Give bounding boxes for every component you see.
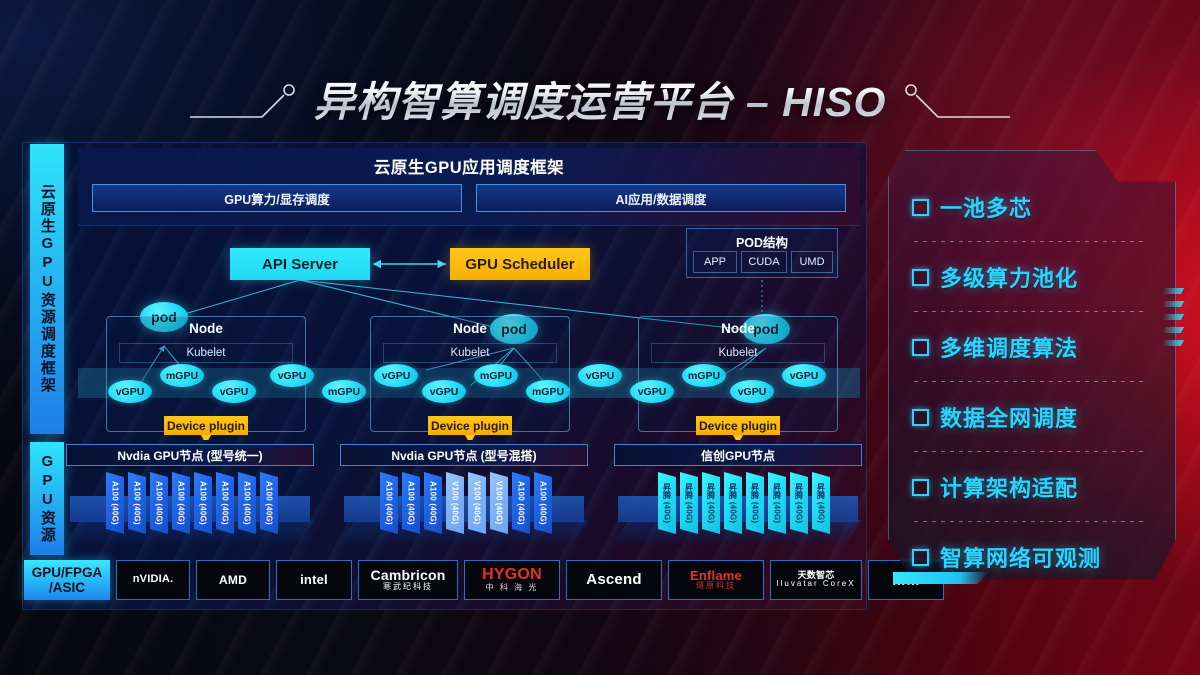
logo-subtitle: 寒武纪科技	[383, 583, 433, 592]
panel-tick	[1162, 301, 1184, 307]
pod-structure-box: POD结构 APP CUDA UMD	[686, 228, 838, 278]
gpu-bubble-vgpu-10[interactable]: vGPU	[630, 380, 674, 403]
feature-label: 多级算力池化	[940, 261, 1078, 293]
sidebar-tab-asic-label: GPU/FPGA/ASIC	[32, 565, 103, 595]
gpu-card[interactable]: 昇腾 (40G)	[790, 472, 808, 534]
checkbox-icon	[912, 409, 929, 426]
gpu-card[interactable]: A100 (40G)	[216, 472, 234, 534]
feature-item-2[interactable]: 多维调度算法	[912, 312, 1162, 382]
panel-tick	[1162, 314, 1184, 320]
gpu-card-stack: 昇腾 (40G)昇腾 (40G)昇腾 (40G)昇腾 (40G)昇腾 (40G)…	[614, 472, 862, 538]
iluvatar-logo[interactable]: 天数智芯Iluvatar CoreX	[770, 560, 862, 600]
pod-structure-title: POD结构	[687, 232, 837, 251]
gpu-card[interactable]: 昇腾 (40G)	[702, 472, 720, 534]
title-decoration-right	[902, 73, 1012, 123]
feature-item-1[interactable]: 多级算力池化	[912, 242, 1162, 312]
gpu-card[interactable]: 昇腾 (40G)	[680, 472, 698, 534]
gpu-scheduler-box[interactable]: GPU Scheduler	[450, 248, 590, 280]
gpu-card[interactable]: A100 (40G)	[380, 472, 398, 534]
framework-pill-compute: GPU算力/显存调度	[92, 184, 462, 212]
checkbox-icon	[912, 549, 929, 566]
gpu-card-label: V100 (40G)	[495, 481, 504, 524]
gpu-card[interactable]: A100 (40G)	[106, 472, 124, 534]
node-title: Node	[639, 321, 837, 336]
logo-name: Ascend	[586, 572, 641, 588]
feature-label: 智算网络可观测	[940, 541, 1101, 573]
checkbox-icon	[912, 269, 929, 286]
gpu-card[interactable]: A100 (40G)	[534, 472, 552, 534]
gpu-group-0: Nvdia GPU节点 (型号统一)A100 (40G)A100 (40G)A1…	[66, 444, 314, 550]
panel-tick	[1162, 327, 1184, 333]
gpu-card-label: 昇腾 (40G)	[794, 483, 805, 523]
gpu-bubble-mgpu-11[interactable]: mGPU	[682, 364, 726, 387]
gpu-group-title: Nvdia GPU节点 (型号统一)	[66, 444, 314, 466]
kubelet-bar: Kubelet	[383, 343, 557, 363]
device-plugin-1[interactable]: Device plugin	[164, 416, 248, 435]
checkbox-icon	[912, 199, 929, 216]
feature-item-4[interactable]: 计算架构适配	[912, 452, 1162, 522]
node-title: Node	[371, 321, 569, 336]
gpu-bubble-vgpu-5[interactable]: vGPU	[374, 364, 418, 387]
device-plugin-3[interactable]: Device plugin	[696, 416, 780, 435]
gpu-bubble-vgpu-9[interactable]: vGPU	[578, 364, 622, 387]
gpu-card-label: A100 (40G)	[517, 481, 526, 525]
gpu-card[interactable]: V100 (40G)	[446, 472, 464, 534]
gpu-card[interactable]: 昇腾 (40G)	[768, 472, 786, 534]
gpu-bubble-vgpu-0[interactable]: vGPU	[108, 380, 152, 403]
gpu-resource-row: Nvdia GPU节点 (型号统一)A100 (40G)A100 (40G)A1…	[66, 444, 866, 552]
gpu-group-title: Nvdia GPU节点 (型号混搭)	[340, 444, 588, 466]
enflame-logo[interactable]: Enflame燧原科技	[668, 560, 764, 600]
intel-logo[interactable]: intel	[276, 560, 352, 600]
gpu-card[interactable]: A100 (40G)	[238, 472, 256, 534]
gpu-card[interactable]: A100 (40G)	[424, 472, 442, 534]
pod-cell-cuda: CUDA	[741, 251, 787, 273]
gpu-card[interactable]: A100 (40G)	[172, 472, 190, 534]
page-title: 异构智算调度运营平台 – HISO	[314, 68, 887, 128]
gpu-card-label: 昇腾 (40G)	[662, 483, 673, 523]
feature-label: 多维调度算法	[940, 331, 1078, 363]
framework-pill-ai: AI应用/数据调度	[476, 184, 846, 212]
feature-item-0[interactable]: 一池多芯	[912, 172, 1162, 242]
nvidia-logo[interactable]: nVIDIA.	[116, 560, 190, 600]
cambricon-logo[interactable]: Cambricon寒武纪科技	[358, 560, 458, 600]
checkbox-icon	[912, 479, 929, 496]
feature-label: 一池多芯	[940, 191, 1032, 223]
api-server-box[interactable]: API Server	[230, 248, 370, 280]
gpu-card[interactable]: V100 (40G)	[468, 472, 486, 534]
scheduling-canvas: API Server GPU Scheduler POD结构 APP CUDA …	[78, 228, 860, 440]
gpu-bubble-mgpu-1[interactable]: mGPU	[160, 364, 204, 387]
gpu-group-title: 信创GPU节点	[614, 444, 862, 466]
logo-name: Cambricon	[371, 568, 446, 583]
gpu-card[interactable]: A100 (40G)	[128, 472, 146, 534]
gpu-card-label: A100 (40G)	[221, 481, 230, 525]
gpu-group-2: 信创GPU节点昇腾 (40G)昇腾 (40G)昇腾 (40G)昇腾 (40G)昇…	[614, 444, 862, 550]
gpu-card-label: 昇腾 (40G)	[772, 483, 783, 523]
vendor-logo-row: nVIDIA.AMDintelCambricon寒武纪科技HYGON中 科 海 …	[116, 560, 864, 600]
logo-name: intel	[300, 573, 328, 587]
logo-subtitle: 燧原科技	[696, 582, 736, 591]
device-plugin-2[interactable]: Device plugin	[428, 416, 512, 435]
hygon-logo[interactable]: HYGON中 科 海 光	[464, 560, 560, 600]
sidebar-tab-asic: GPU/FPGA/ASIC	[24, 560, 110, 600]
panel-tick-marks	[1162, 288, 1184, 368]
gpu-card-label: A100 (40G)	[407, 481, 416, 525]
gpu-card-label: A100 (40G)	[155, 481, 164, 525]
gpu-card-label: 昇腾 (40G)	[706, 483, 717, 523]
gpu-bubble-vgpu-2[interactable]: vGPU	[212, 380, 256, 403]
gpu-card-label: A100 (40G)	[385, 481, 394, 525]
kubelet-bar: Kubelet	[119, 343, 293, 363]
gpu-card-label: A100 (40G)	[199, 481, 208, 525]
gpu-card-label: A100 (40G)	[133, 481, 142, 525]
gpu-group-1: Nvdia GPU节点 (型号混搭)A100 (40G)A100 (40G)A1…	[340, 444, 588, 550]
gpu-card-label: A100 (40G)	[177, 481, 186, 525]
gpu-card[interactable]: A100 (40G)	[512, 472, 530, 534]
gpu-card[interactable]: A100 (40G)	[194, 472, 212, 534]
title-decoration-left	[188, 73, 298, 123]
framework-band: 云原生GPU应用调度框架 GPU算力/显存调度 AI应用/数据调度	[78, 148, 860, 226]
logo-subtitle: 中 科 海 光	[486, 584, 539, 593]
sidebar-tab-gpu-resource: GPU资源	[30, 442, 64, 555]
gpu-card-label: A100 (40G)	[243, 481, 252, 525]
gpu-bubble-vgpu-13[interactable]: vGPU	[782, 364, 826, 387]
gpu-card-label: A100 (40G)	[265, 481, 274, 525]
pod-cell-umd: UMD	[791, 251, 833, 273]
gpu-bubble-vgpu-6[interactable]: vGPU	[422, 380, 466, 403]
gpu-bubble-vgpu-3[interactable]: vGPU	[270, 364, 314, 387]
gpu-card-label: V100 (40G)	[451, 481, 460, 524]
gpu-bubble-mgpu-8[interactable]: mGPU	[526, 380, 570, 403]
framework-title: 云原生GPU应用调度框架	[78, 154, 860, 178]
logo-subtitle: Iluvatar CoreX	[776, 580, 855, 589]
gpu-card-label: A100 (40G)	[539, 481, 548, 525]
gpu-card-label: 昇腾 (40G)	[750, 483, 761, 523]
logo-name: HYGON	[482, 567, 542, 584]
gpu-bubble-mgpu-4[interactable]: mGPU	[322, 380, 366, 403]
gpu-bubble-mgpu-7[interactable]: mGPU	[474, 364, 518, 387]
title-bar: 异构智算调度运营平台 – HISO	[0, 60, 1200, 136]
feature-label: 数据全网调度	[940, 401, 1078, 433]
logo-name: AMD	[219, 574, 247, 587]
panel-tick	[1162, 340, 1184, 346]
feature-item-3[interactable]: 数据全网调度	[912, 382, 1162, 452]
logo-name: nVIDIA.	[133, 574, 174, 586]
gpu-card[interactable]: 昇腾 (40G)	[658, 472, 676, 534]
gpu-card-stack: A100 (40G)A100 (40G)A100 (40G)V100 (40G)…	[340, 472, 588, 538]
kubelet-bar: Kubelet	[651, 343, 825, 363]
gpu-card-label: V100 (40G)	[473, 481, 482, 524]
gpu-card-label: A100 (40G)	[111, 481, 120, 525]
gpu-card-label: 昇腾 (40G)	[728, 483, 739, 523]
node-title: Node	[107, 321, 305, 336]
gpu-card[interactable]: 昇腾 (40G)	[812, 472, 830, 534]
checkbox-icon	[912, 339, 929, 356]
feature-list: 一池多芯多级算力池化多维调度算法数据全网调度计算架构适配智算网络可观测	[912, 172, 1162, 592]
feature-label: 计算架构适配	[940, 471, 1078, 503]
gpu-card[interactable]: A100 (40G)	[150, 472, 168, 534]
gpu-card-stack: A100 (40G)A100 (40G)A100 (40G)A100 (40G)…	[66, 472, 314, 538]
gpu-bubble-vgpu-12[interactable]: vGPU	[730, 380, 774, 403]
gpu-card[interactable]: V100 (40G)	[490, 472, 508, 534]
gpu-card-label: 昇腾 (40G)	[816, 483, 827, 523]
gpu-card[interactable]: A100 (40G)	[402, 472, 420, 534]
gpu-card-label: A100 (40G)	[429, 481, 438, 525]
gpu-card[interactable]: 昇腾 (40G)	[746, 472, 764, 534]
pod-cell-app: APP	[693, 251, 737, 273]
feature-item-5[interactable]: 智算网络可观测	[912, 522, 1162, 592]
gpu-card[interactable]: A100 (40G)	[260, 472, 278, 534]
gpu-card-label: 昇腾 (40G)	[684, 483, 695, 523]
amd-logo[interactable]: AMD	[196, 560, 270, 600]
ascend-logo[interactable]: Ascend	[566, 560, 662, 600]
gpu-card[interactable]: 昇腾 (40G)	[724, 472, 742, 534]
sidebar-tab-framework: 云原生GPU资源调度框架	[30, 144, 64, 434]
panel-tick	[1162, 288, 1184, 294]
